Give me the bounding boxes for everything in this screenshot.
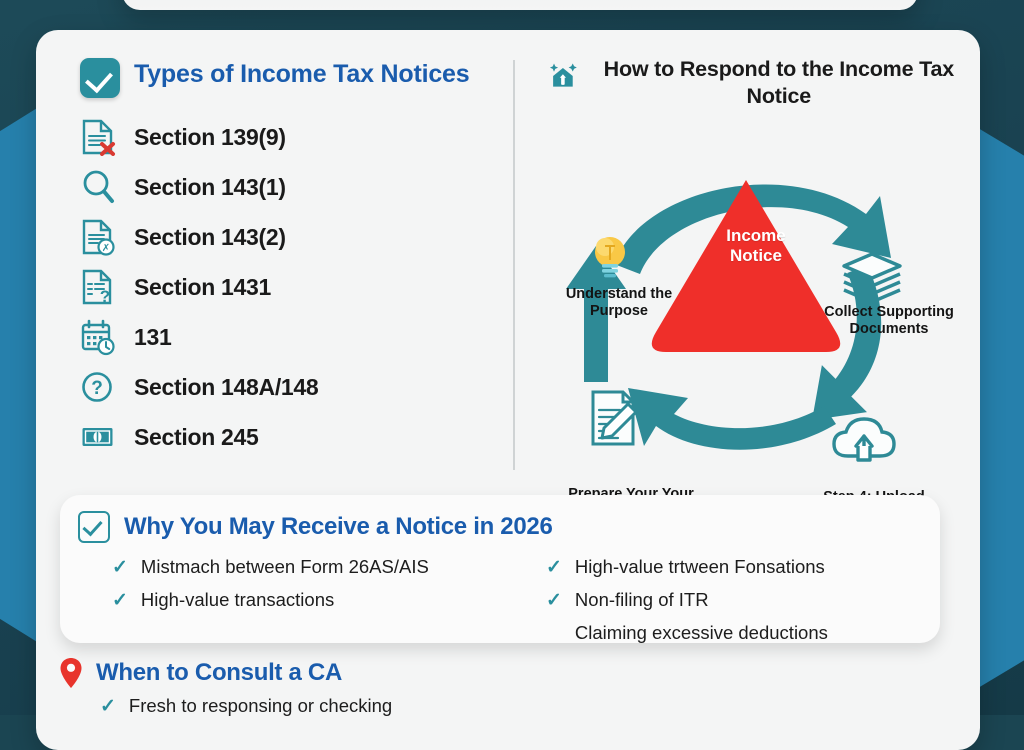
why-header: Why You May Receive a Notice in 2026 [60,495,940,543]
types-title: Types of Income Tax Notices [134,59,469,90]
how-to-respond-header: How to Respond to the Income Tax Notice [536,56,976,110]
why-column-right: ✓ High-value trtween Fonsations ✓ Non-fi… [500,551,940,650]
document-error-icon [80,118,116,156]
list-item: ✓ High-value trtween Fonsations [500,551,940,584]
banknote-icon [80,418,116,456]
calendar-clock-icon [80,318,116,356]
list-item: ✓ Mistmach between Form 26AS/AIS [60,551,500,584]
document-scrutiny-icon: ✗ [80,218,116,256]
list-item-label: Non-filing of ITR [575,586,709,613]
center-alert-line1: Income [536,226,976,246]
how-to-respond-title: How to Respond to the Income Tax Notice [592,56,966,110]
list-item[interactable]: Section 139(9) [80,112,510,162]
question-circle-icon: ? [80,368,116,406]
magnifier-icon [80,168,116,206]
list-item-label: High-value trtween Fonsations [575,553,825,580]
list-item-label: Claiming excessive deductions [575,619,828,646]
svg-text:✗: ✗ [102,243,110,254]
consult-header: When to Consult a CA [60,658,940,688]
list-item-label: Fresh to responsing or checking [129,695,392,717]
list-item: ✓ Claiming excessive deductions [500,617,940,650]
list-item[interactable]: 131 [80,312,510,362]
list-item-label: Section 148A/148 [134,374,318,401]
why-title: Why You May Receive a Notice in 2026 [124,513,553,541]
why-columns: ✓ Mistmach between Form 26AS/AIS ✓ High-… [60,543,940,650]
why-column-left: ✓ Mistmach between Form 26AS/AIS ✓ High-… [60,551,500,650]
top-partial-card [122,0,918,10]
cloud-upload-icon [834,419,894,460]
when-to-consult-section: When to Consult a CA ✓ Fresh to responsi… [60,658,940,718]
home-sparkle-icon [546,56,582,96]
center-alert-line2: Notice [536,246,976,266]
list-item: ✓ Fresh to responsing or checking [60,688,940,718]
two-column-region: Types of Income Tax Notices Section 139(… [36,30,980,485]
list-item[interactable]: ✗ Section 143(2) [80,212,510,262]
list-item[interactable]: ? Section 1431 [80,262,510,312]
decorative-band-right [978,128,1024,688]
step-label-collect: Collect Supporting Documents [824,304,954,339]
types-of-notices-column: Types of Income Tax Notices Section 139(… [80,58,510,462]
svg-text:?: ? [100,287,110,306]
check-icon: ✓ [112,554,128,582]
document-question-icon: ? [80,268,116,306]
why-receive-notice-card: Why You May Receive a Notice in 2026 ✓ M… [60,495,940,643]
list-item-label: Section 143(2) [134,224,286,251]
list-item-label: High-value transactions [141,586,334,613]
list-item[interactable]: Section 245 [80,412,510,462]
list-item-label: Mistmach between Form 26AS/AIS [141,553,429,580]
list-item: ✓ High-value transactions [60,584,500,617]
types-header: Types of Income Tax Notices [80,58,510,98]
list-item[interactable]: Section 143(1) [80,162,510,212]
check-icon: ✓ [112,587,128,615]
list-item-label: Section 143(1) [134,174,286,201]
list-item-label: Section 245 [134,424,259,451]
location-pin-icon [60,658,82,688]
arrow-bottom [628,388,836,450]
center-alert-text: Income Notice [536,226,976,265]
checkbox-outline-icon [78,511,110,543]
checkbox-checked-icon [80,58,120,98]
list-item-label: 131 [134,324,171,351]
response-cycle-diagram: Income Notice Understand the Purpose Col… [536,134,976,484]
column-divider [513,60,515,470]
step-label-understand: Understand the Purpose [544,286,694,321]
list-item: ✓ Non-filing of ITR [500,584,940,617]
svg-text:?: ? [91,378,103,399]
notice-type-list: Section 139(9) Section 143(1) [80,112,510,462]
check-icon: ✓ [546,554,562,582]
list-item[interactable]: ? Section 148A/148 [80,362,510,412]
document-pen-icon [593,392,636,444]
list-item-label: Section 1431 [134,274,271,301]
list-item-label: Section 139(9) [134,124,286,151]
check-icon: ✓ [546,587,562,615]
consult-title: When to Consult a CA [96,659,342,687]
how-to-respond-column: How to Respond to the Income Tax Notice [536,56,976,486]
